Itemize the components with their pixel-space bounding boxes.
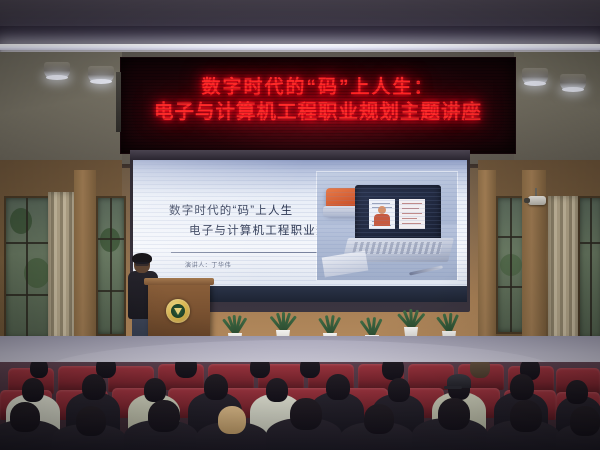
audience-head — [566, 380, 588, 404]
audience-head — [470, 362, 490, 378]
led-pixel-grid — [121, 58, 515, 153]
camera-mount — [535, 188, 537, 196]
audience-head — [300, 362, 320, 378]
audience-head — [510, 400, 542, 432]
lectern-top — [144, 278, 214, 285]
audience-cap-brim — [444, 386, 462, 389]
audience-head — [22, 378, 44, 402]
audience-head — [326, 374, 350, 400]
speaker-glasses-icon — [135, 262, 149, 266]
audience-head — [266, 378, 288, 402]
window-left-outer — [4, 196, 52, 340]
audience-head — [570, 406, 600, 436]
audience-head — [510, 374, 534, 400]
lecture-hall-photo: 数字时代的“码”上人生： 电子与计算机工程职业规划主题讲座 — [0, 0, 600, 450]
led-banner: 数字时代的“码”上人生： 电子与计算机工程职业规划主题讲座 — [120, 57, 516, 154]
audience-head — [218, 406, 246, 434]
audience-head — [364, 404, 394, 434]
window-right-outer — [578, 196, 600, 340]
ceiling-spotlight — [560, 74, 586, 90]
security-camera-icon — [528, 196, 546, 205]
audience-head — [438, 398, 470, 430]
audience-head — [388, 378, 410, 402]
crest-mark — [174, 308, 182, 315]
audience-head — [175, 362, 197, 378]
audience-head — [30, 362, 48, 378]
crest-inner — [171, 304, 185, 318]
audience-head — [144, 378, 166, 402]
audience-head — [10, 402, 40, 432]
ceiling-spotlight — [88, 66, 114, 82]
led-banner-left-bracket — [116, 72, 121, 132]
audience-head — [290, 398, 322, 430]
audience-area — [0, 362, 600, 450]
ceiling-spotlight — [44, 62, 70, 78]
window-left-inner — [96, 196, 126, 336]
left-window-curtain — [48, 192, 74, 342]
left-pillar — [74, 170, 96, 346]
projection-screen-header — [130, 150, 470, 160]
audience-head — [82, 374, 106, 400]
stage-plant — [394, 300, 428, 340]
audience-head — [204, 374, 228, 400]
audience-head — [148, 400, 180, 432]
ceiling-spotlight — [522, 68, 548, 84]
audience-head — [250, 362, 270, 378]
university-crest-icon — [166, 299, 190, 323]
right-window-curtain — [548, 196, 578, 342]
audience-head — [76, 406, 106, 436]
right-pillar-a — [478, 170, 496, 346]
